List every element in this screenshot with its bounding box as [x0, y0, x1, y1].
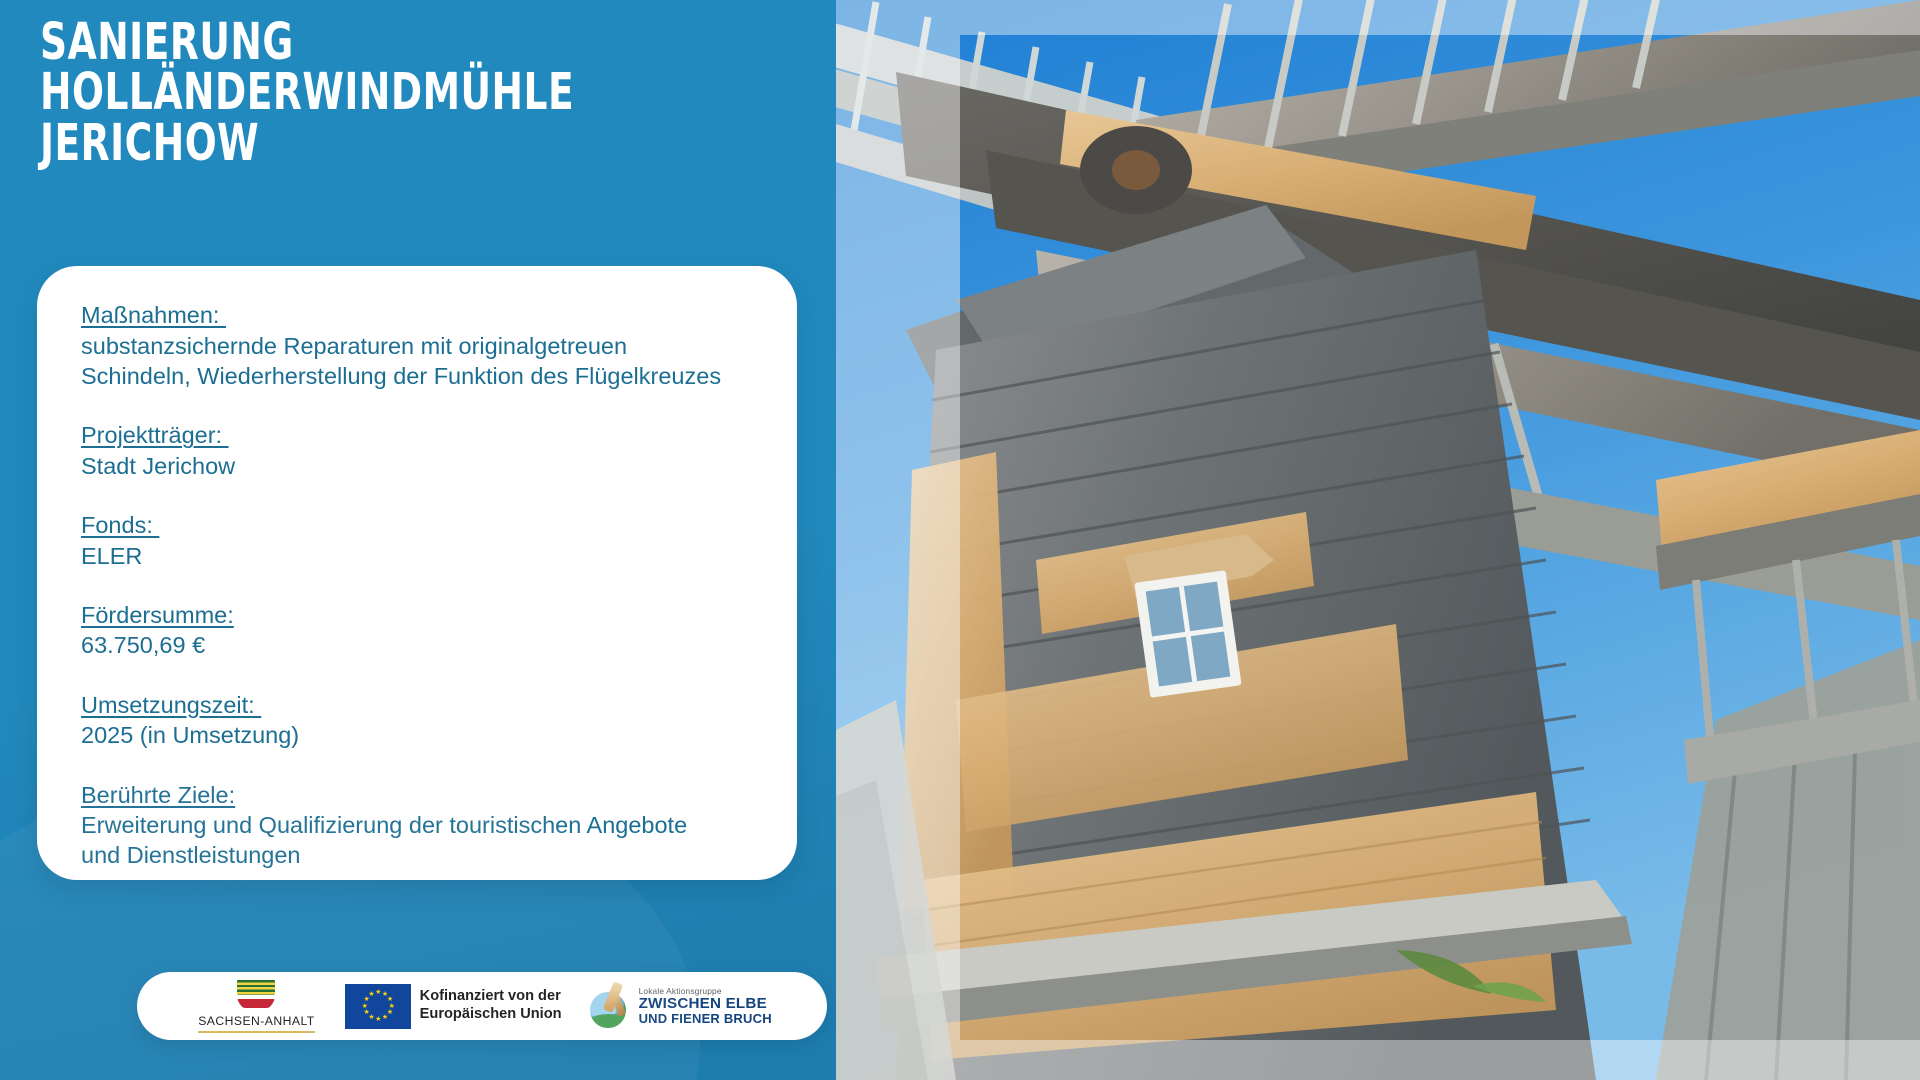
info-label: Fördersumme:: [81, 600, 234, 631]
title-line-3: JERICHOW: [40, 119, 663, 169]
info-label: Maßnahmen:: [81, 300, 226, 331]
info-block-umsetzungszeit: Umsetzungszeit: 2025 (in Umsetzung): [81, 690, 767, 751]
info-label: Projektträger:: [81, 420, 229, 451]
logo-sachsen-anhalt-label: SACHSEN-ANHALT: [198, 1014, 314, 1033]
left-blue-panel: SANIERUNG HOLLÄNDERWINDMÜHLE JERICHOW Ma…: [0, 0, 836, 1080]
info-value: 63.750,69 €: [81, 630, 767, 660]
info-block-beruehrte-ziele: Berührte Ziele: Erweiterung und Qualifiz…: [81, 780, 767, 871]
eu-star-icon: ★: [389, 1004, 394, 1009]
eu-star-icon: ★: [375, 1017, 380, 1022]
windmill-illustration: [836, 0, 1920, 1080]
info-label: Berührte Ziele:: [81, 780, 235, 811]
eu-star-icon: ★: [375, 990, 380, 995]
info-label: Umsetzungszeit:: [81, 690, 261, 721]
title-line-1: SANIERUNG: [40, 18, 663, 68]
logo-eu-line-1: Kofinanziert von der: [420, 988, 561, 1004]
info-block-projekttraeger: Projektträger: Stadt Jerichow: [81, 420, 767, 481]
eu-star-icon: ★: [368, 992, 373, 997]
info-label: Fonds:: [81, 510, 159, 541]
lag-globe-emblem-icon: [588, 984, 632, 1028]
sachsen-anhalt-coat-of-arms-icon: [234, 980, 278, 1012]
eu-star-icon: ★: [362, 1004, 367, 1009]
info-value: ELER: [81, 541, 767, 571]
project-info-list: Maßnahmen: substanzsichernde Reparaturen…: [81, 300, 767, 871]
info-value: und Dienstleistungen: [81, 840, 767, 870]
logo-lag-line-2: UND FIENER BRUCH: [639, 1012, 772, 1025]
logo-lag: Lokale Aktionsgruppe ZWISCHEN ELBE UND F…: [588, 984, 772, 1028]
poster-canvas: SANIERUNG HOLLÄNDERWINDMÜHLE JERICHOW Ma…: [0, 0, 1920, 1080]
logo-lag-subtitle: Lokale Aktionsgruppe: [639, 987, 772, 996]
logo-eu-line-2: Europäischen Union: [420, 1006, 562, 1022]
logo-lag-line-1: ZWISCHEN ELBE: [639, 996, 772, 1012]
eu-star-icon: ★: [387, 997, 392, 1002]
info-block-massnahmen: Maßnahmen: substanzsichernde Reparaturen…: [81, 300, 767, 391]
windmill-photo: [836, 0, 1920, 1080]
info-block-fonds: Fonds: ELER: [81, 510, 767, 571]
title-line-2: HOLLÄNDERWINDMÜHLE: [40, 68, 663, 118]
info-value: Stadt Jerichow: [81, 451, 767, 481]
info-value: Erweiterung und Qualifizierung der touri…: [81, 810, 767, 840]
info-value: 2025 (in Umsetzung): [81, 720, 767, 750]
page-title: SANIERUNG HOLLÄNDERWINDMÜHLE JERICHOW: [40, 18, 663, 169]
logo-european-union: ★★★★★★★★★★★★ Kofinanziert von der Europä…: [345, 984, 562, 1029]
eu-star-icon: ★: [382, 1015, 387, 1020]
funding-logo-bar: SACHSEN-ANHALT ★★★★★★★★★★★★ Kofinanziert…: [137, 972, 827, 1040]
logo-sachsen-anhalt: SACHSEN-ANHALT: [198, 980, 314, 1033]
info-value: Schindeln, Wiederherstellung der Funktio…: [81, 361, 767, 391]
eu-flag-icon: ★★★★★★★★★★★★: [345, 984, 411, 1029]
project-info-card: Maßnahmen: substanzsichernde Reparaturen…: [37, 266, 797, 880]
info-block-foerdersumme: Fördersumme: 63.750,69 €: [81, 600, 767, 661]
info-value: substanzsichernde Reparaturen mit origin…: [81, 331, 767, 361]
eu-star-icon: ★: [363, 1010, 368, 1015]
logo-eu-label: Kofinanziert von der Europäischen Union: [420, 988, 562, 1024]
logo-lag-label: Lokale Aktionsgruppe ZWISCHEN ELBE UND F…: [639, 987, 772, 1025]
